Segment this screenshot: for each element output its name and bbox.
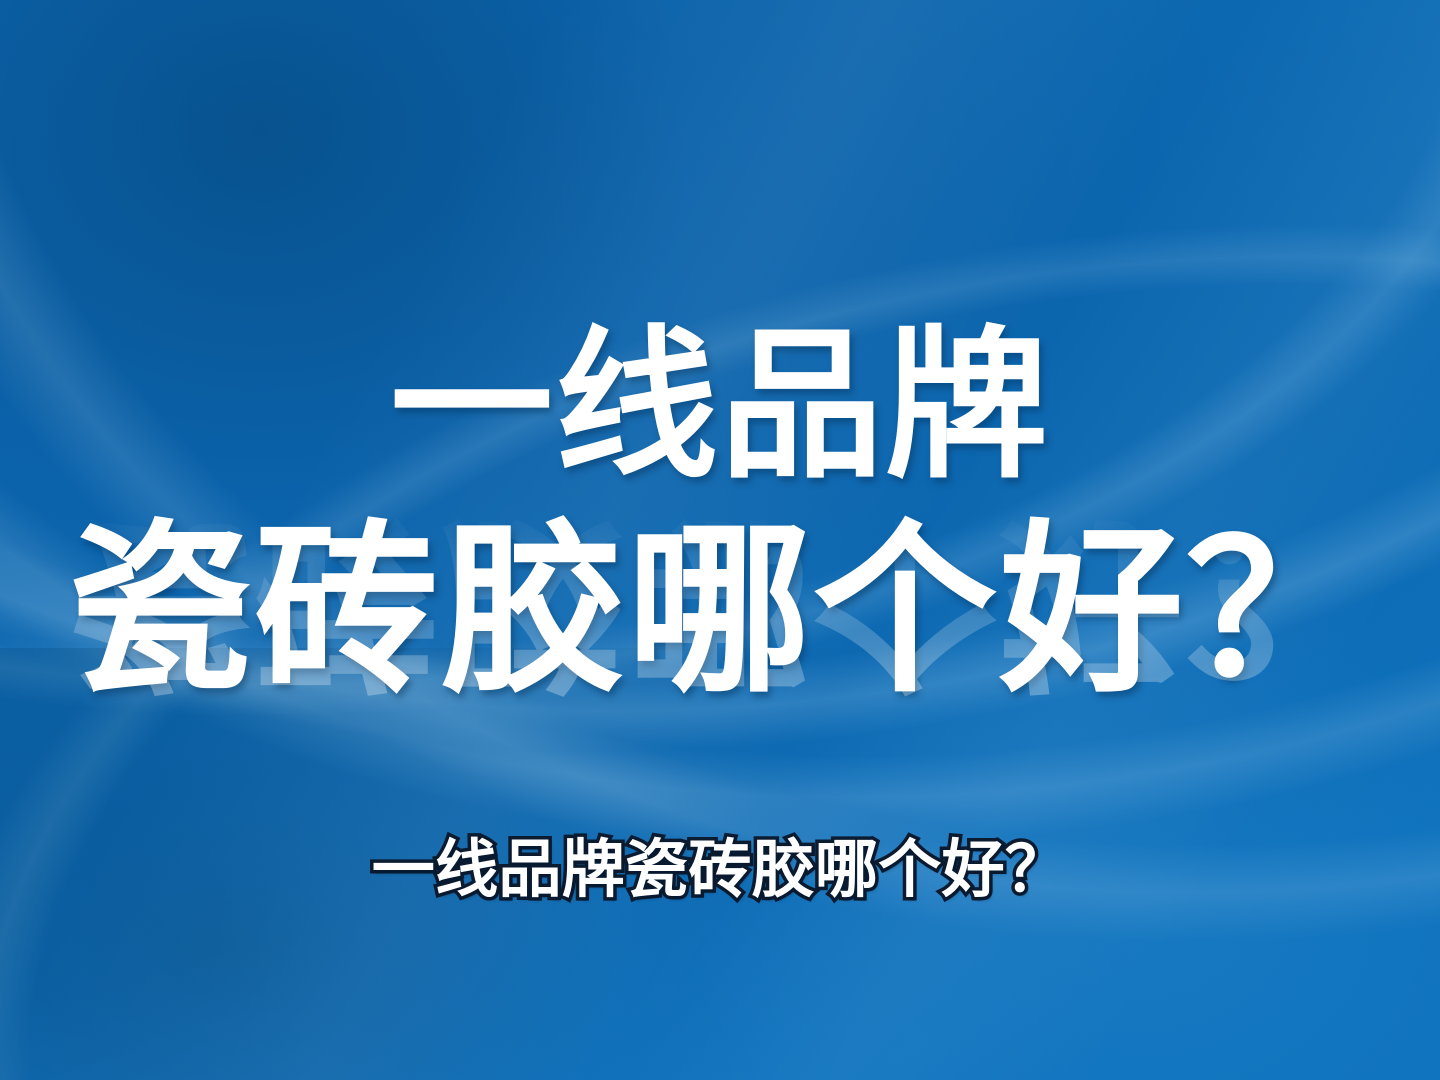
poster-canvas: 一线品牌 瓷砖胶哪个好？ 瓷砖胶哪个好？ 一线品牌瓷砖胶哪个好？ (0, 0, 1440, 1080)
headline-block: 一线品牌 瓷砖胶哪个好？ 瓷砖胶哪个好？ 一线品牌瓷砖胶哪个好？ (0, 0, 1440, 1080)
subtitle-caption: 一线品牌瓷砖胶哪个好？ (0, 833, 1440, 907)
headline-reflection: 瓷砖胶哪个好？ (0, 504, 1440, 700)
headline-line-1: 一线品牌 (0, 318, 1440, 494)
